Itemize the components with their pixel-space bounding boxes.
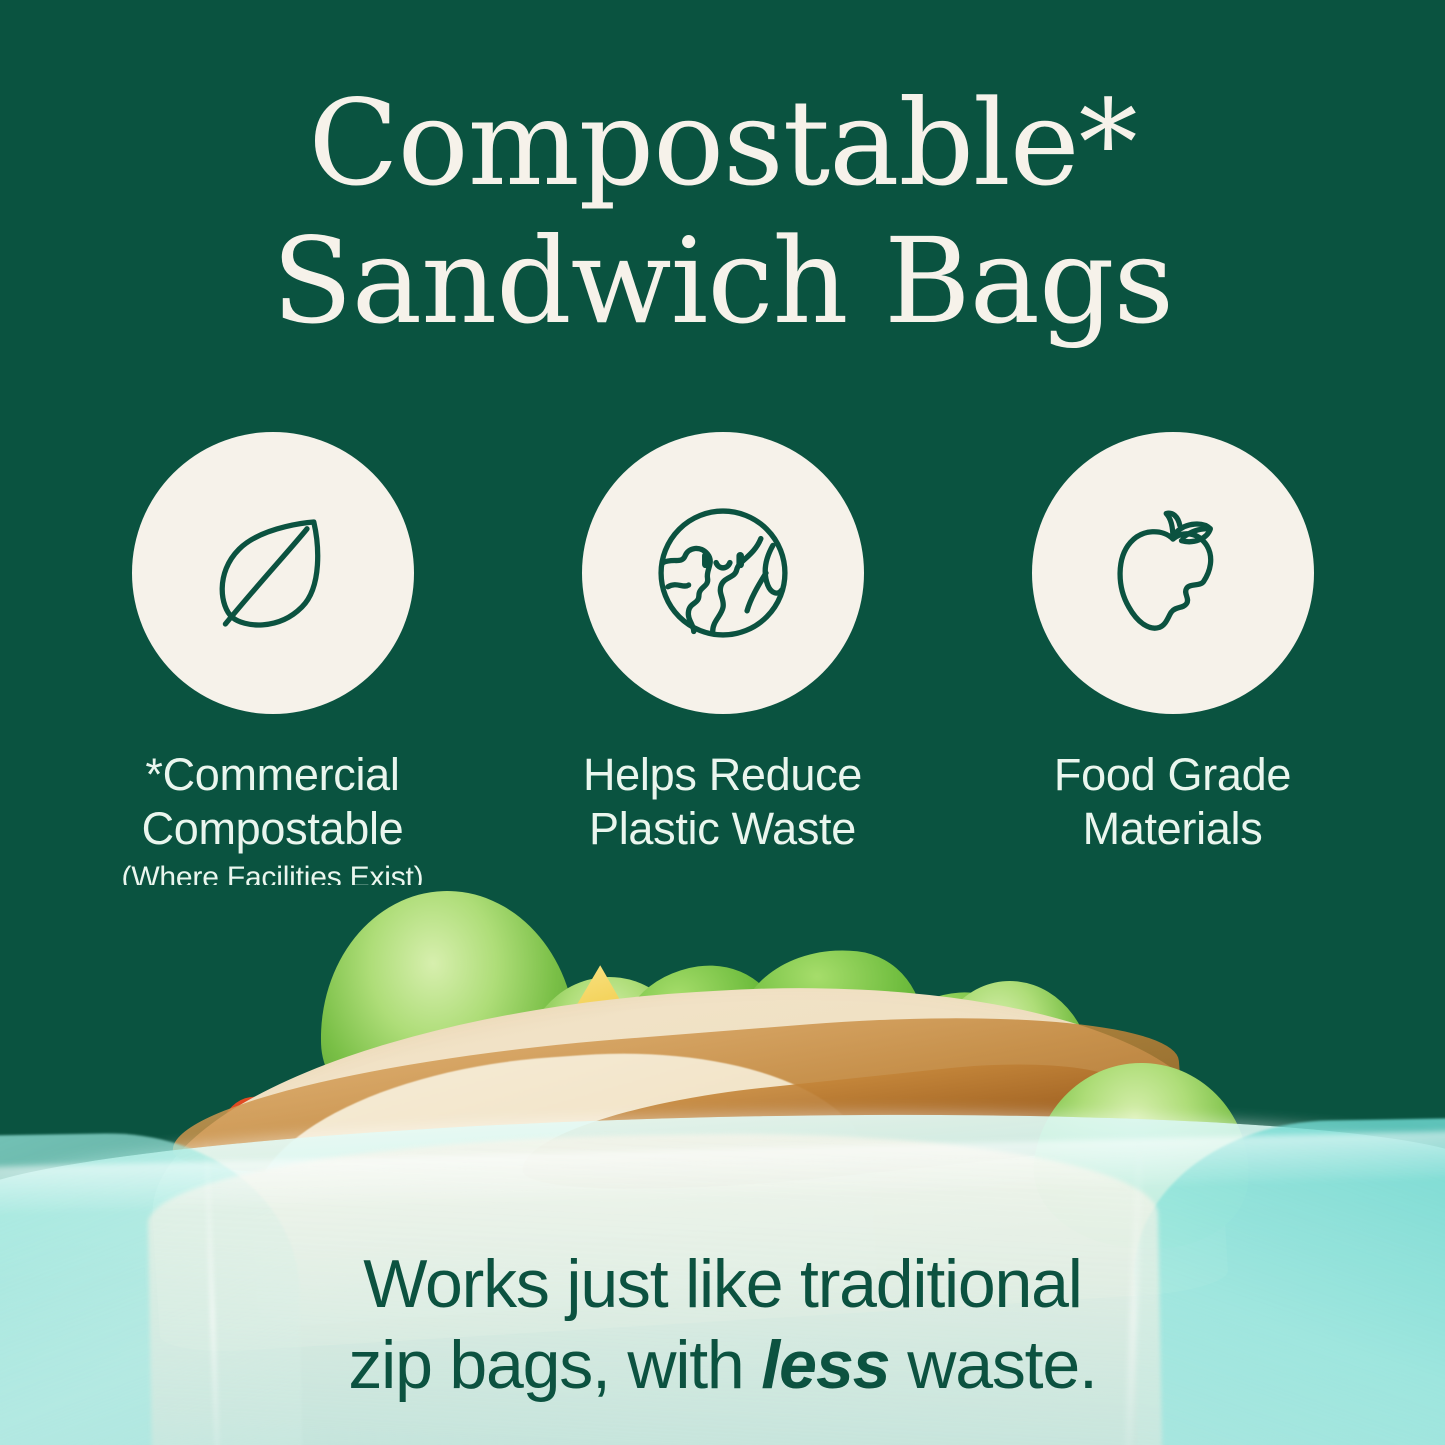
headline-line-1: Compostable* bbox=[120, 74, 1325, 212]
tagline-emphasis: less bbox=[761, 1327, 889, 1403]
benefit-caption: Food Grade Materials bbox=[1054, 748, 1291, 856]
page-title: Compostable* Sandwich Bags bbox=[0, 74, 1445, 350]
benefit-item-plastic-waste: Helps Reduce Plastic Waste bbox=[550, 432, 895, 860]
product-hero-image: Compostable* Sandwich Bags *Commercial C… bbox=[0, 0, 1445, 1445]
headline-line-2: Sandwich Bags bbox=[120, 212, 1325, 350]
tagline-line-2-after: waste. bbox=[890, 1327, 1097, 1403]
smiling-earth-icon bbox=[637, 487, 809, 659]
leaf-icon bbox=[188, 488, 358, 658]
bitten-apple-icon bbox=[1088, 488, 1258, 658]
benefit-icon-circle bbox=[1032, 432, 1314, 714]
benefit-item-compostable: *Commercial Compostable (Where Facilitie… bbox=[100, 432, 445, 896]
benefit-caption: Helps Reduce Plastic Waste bbox=[583, 748, 862, 856]
benefit-item-food-grade: Food Grade Materials bbox=[1000, 432, 1345, 860]
tagline-line-1: Works just like traditional bbox=[120, 1244, 1325, 1326]
benefit-icon-circle bbox=[582, 432, 864, 714]
benefit-icon-circle bbox=[132, 432, 414, 714]
benefit-row: *Commercial Compostable (Where Facilitie… bbox=[100, 432, 1345, 896]
benefit-caption: *Commercial Compostable bbox=[142, 748, 404, 856]
tagline-line-2: zip bags, with less waste. bbox=[120, 1325, 1325, 1407]
tagline: Works just like traditional zip bags, wi… bbox=[0, 1244, 1445, 1407]
tagline-line-2-before: zip bags, with bbox=[348, 1327, 761, 1403]
